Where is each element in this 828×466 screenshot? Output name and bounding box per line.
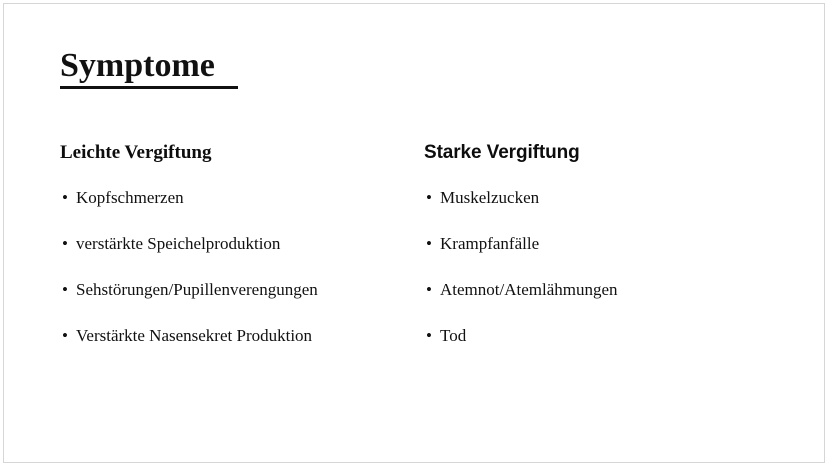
column-leichte-vergiftung: Leichte Vergiftung • Kopfschmerzen • ver…: [60, 142, 420, 347]
list-item-label: Krampfanfälle: [440, 234, 539, 253]
bullet-dot-icon: •: [426, 186, 432, 209]
list-item-label: Kopfschmerzen: [76, 188, 184, 207]
page-title: Symptome: [60, 47, 238, 85]
list-item: • Muskelzucken: [424, 186, 784, 209]
bullet-dot-icon: •: [62, 232, 68, 255]
list-item-label: Tod: [440, 326, 466, 345]
list-item-label: Verstärkte Nasensekret Produktion: [76, 326, 312, 345]
column-starke-vergiftung: Starke Vergiftung • Muskelzucken • Kramp…: [424, 142, 784, 347]
bullet-dot-icon: •: [62, 186, 68, 209]
bullet-dot-icon: •: [426, 232, 432, 255]
list-item: • Verstärkte Nasensekret Produktion: [60, 324, 420, 347]
list-item-label: Sehstörungen/Pupillenverengungen: [76, 280, 318, 299]
bullet-dot-icon: •: [62, 278, 68, 301]
title-underline-rule: [60, 86, 238, 89]
slide-canvas: Symptome Leichte Vergiftung • Kopfschmer…: [0, 0, 828, 466]
column-heading-left: Leichte Vergiftung: [60, 142, 420, 164]
bullet-dot-icon: •: [426, 324, 432, 347]
list-item: • Atemnot/Atemlähmungen: [424, 278, 784, 301]
list-item-label: Muskelzucken: [440, 188, 539, 207]
slide-title-block: Symptome: [60, 47, 238, 89]
list-item: • Krampfanfälle: [424, 232, 784, 255]
list-item: • Sehstörungen/Pupillenverengungen: [60, 278, 420, 301]
list-item: • Kopfschmerzen: [60, 186, 420, 209]
bullet-dot-icon: •: [426, 278, 432, 301]
list-item: • verstärkte Speichelproduktion: [60, 232, 420, 255]
list-item: • Tod: [424, 324, 784, 347]
list-item-label: verstärkte Speichelproduktion: [76, 234, 280, 253]
bullet-dot-icon: •: [62, 324, 68, 347]
column-heading-right: Starke Vergiftung: [424, 142, 784, 164]
bullet-list-right: • Muskelzucken • Krampfanfälle • Atemnot…: [424, 186, 784, 347]
list-item-label: Atemnot/Atemlähmungen: [440, 280, 618, 299]
bullet-list-left: • Kopfschmerzen • verstärkte Speichelpro…: [60, 186, 420, 347]
